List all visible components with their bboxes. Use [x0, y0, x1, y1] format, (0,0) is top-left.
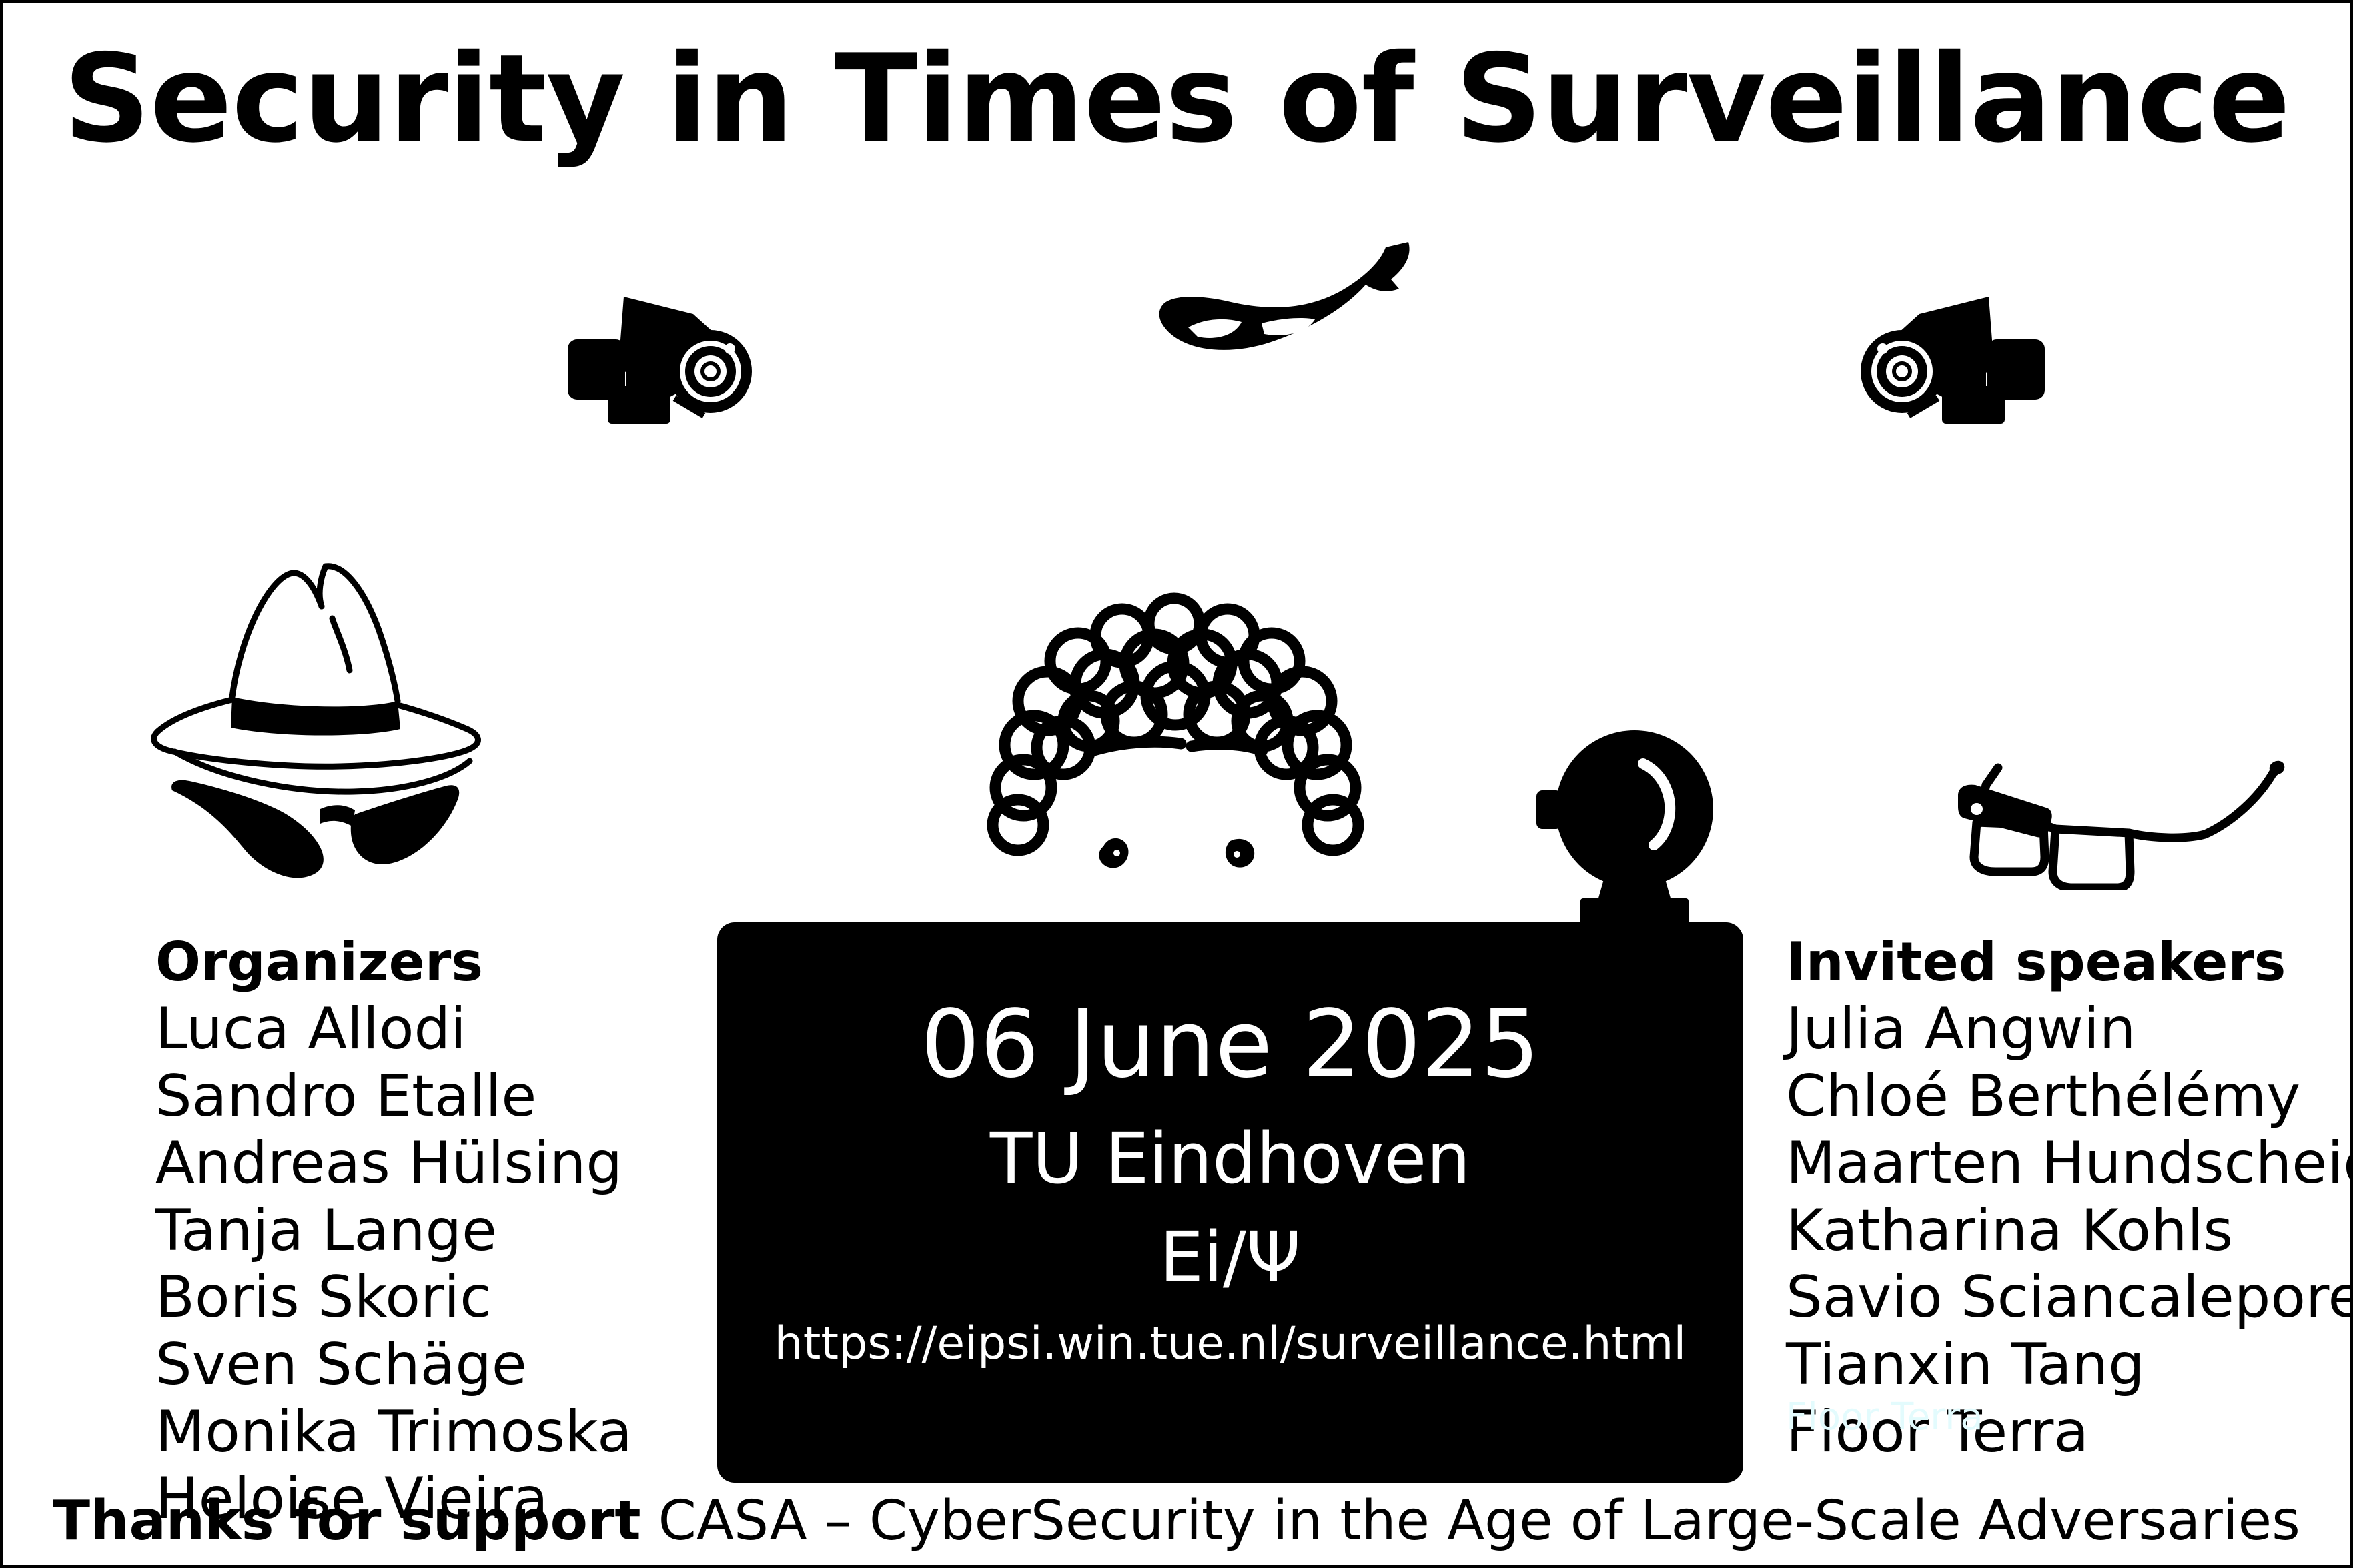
list-item: Sven Schäge	[155, 1331, 632, 1399]
list-item: Savio Sciancalepore	[1786, 1264, 2353, 1331]
list-item: Katharina Kohls	[1786, 1197, 2353, 1265]
list-item: Luca Allodi	[155, 996, 632, 1063]
support-credit-text: CASA – CyberSecurity in the Age of Large…	[641, 1489, 2300, 1553]
event-venue: TU Eindhoven	[717, 1124, 1743, 1193]
page-title: Security in Times of Surveillance	[3, 38, 2350, 159]
curly-hair-face-icon	[954, 584, 1394, 904]
security-camera-icon	[562, 273, 776, 440]
event-details-panel: 06 June 2025 TU Eindhoven Ei/Ψ https://e…	[717, 922, 1743, 1483]
bandit-eye-mask-icon	[1151, 223, 1431, 370]
list-item: Boris Skoric	[155, 1264, 632, 1331]
ghost-text-artifact: Floor Terra	[1786, 1399, 1983, 1436]
event-url-link[interactable]: https://eipsi.win.tue.nl/surveillance.ht…	[717, 1321, 1743, 1367]
list-item: Tanja Lange	[155, 1197, 632, 1265]
event-lab: Ei/Ψ	[717, 1223, 1743, 1292]
detective-hat-sunglasses-icon	[120, 537, 534, 884]
security-camera-icon	[1837, 273, 2050, 440]
invited-speakers-heading: Invited speakers	[1786, 930, 2353, 994]
invited-speakers-column: Invited speakers Julia Angwin Chloé Bert…	[1786, 930, 2353, 1465]
support-credit: Thanks for support CASA – CyberSecurity …	[3, 1494, 2350, 1549]
list-item: Andreas Hülsing	[155, 1130, 632, 1197]
event-date: 06 June 2025	[717, 998, 1743, 1092]
support-credit-label: Thanks for support	[53, 1489, 640, 1553]
organizers-column: Organizers Luca Allodi Sandro Etalle And…	[155, 930, 632, 1533]
list-item: Maarten Hundscheid	[1786, 1130, 2353, 1197]
list-item: Julia Angwin	[1786, 996, 2353, 1063]
organizers-heading: Organizers	[155, 930, 632, 994]
list-item: Tianxin Tang	[1786, 1331, 2353, 1399]
webcam-icon	[1524, 724, 1745, 944]
list-item: Chloé Berthélémy	[1786, 1063, 2353, 1130]
poster-canvas: Security in Times of Surveillance	[0, 0, 2353, 1568]
list-item: Monika Trimoska	[155, 1399, 632, 1466]
list-item: Sandro Etalle	[155, 1063, 632, 1130]
smart-glasses-icon	[1938, 724, 2298, 890]
